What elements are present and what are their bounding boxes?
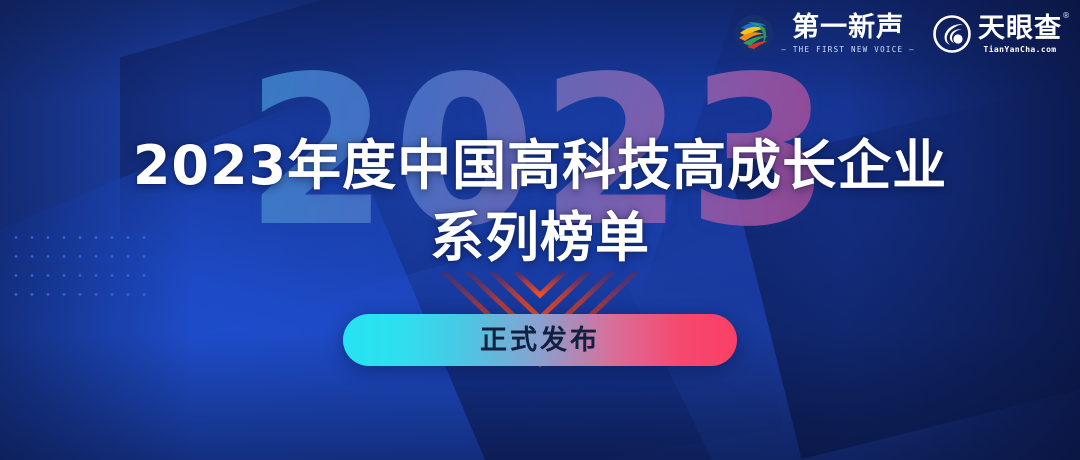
- tianyancha-logo-text: 天眼查 ® TianYanCha.com: [978, 15, 1062, 54]
- logo-diyixinsheng[interactable]: 第一新声 — THE FIRST NEW VOICE —: [734, 14, 915, 54]
- diyixinsheng-name-cn: 第一新声: [792, 14, 904, 41]
- tianyancha-tagline-en: TianYanCha.com: [983, 45, 1056, 54]
- tianyancha-aperture-eye-logo-icon: [933, 15, 971, 53]
- title-line-1: 2023年度中国高科技高成长企业: [0, 130, 1080, 202]
- tianyancha-name-cn-text: 天眼查: [978, 13, 1062, 44]
- tianyancha-trademark-symbol: ®: [1062, 12, 1071, 20]
- diyixinsheng-swoosh-logo-icon: [734, 14, 774, 54]
- title-line-2: 系列榜单: [0, 202, 1080, 274]
- diyixinsheng-logo-text: 第一新声 — THE FIRST NEW VOICE —: [781, 14, 915, 54]
- banner-title: 2023年度中国高科技高成长企业 系列榜单: [0, 130, 1080, 275]
- tianyancha-name-cn: 天眼查 ®: [978, 15, 1062, 42]
- diyixinsheng-tagline-en: — THE FIRST NEW VOICE —: [781, 45, 915, 54]
- promotional-banner: 2023 2023 2023年度中国高科技高成长企业 系列榜单 正式发布: [0, 0, 1080, 460]
- logo-tianyancha[interactable]: 天眼查 ® TianYanCha.com: [933, 15, 1062, 54]
- official-release-button[interactable]: 正式发布: [343, 314, 737, 366]
- logo-group: 第一新声 — THE FIRST NEW VOICE — 天眼查 ® TianY…: [734, 14, 1062, 54]
- official-release-button-label: 正式发布: [480, 327, 600, 354]
